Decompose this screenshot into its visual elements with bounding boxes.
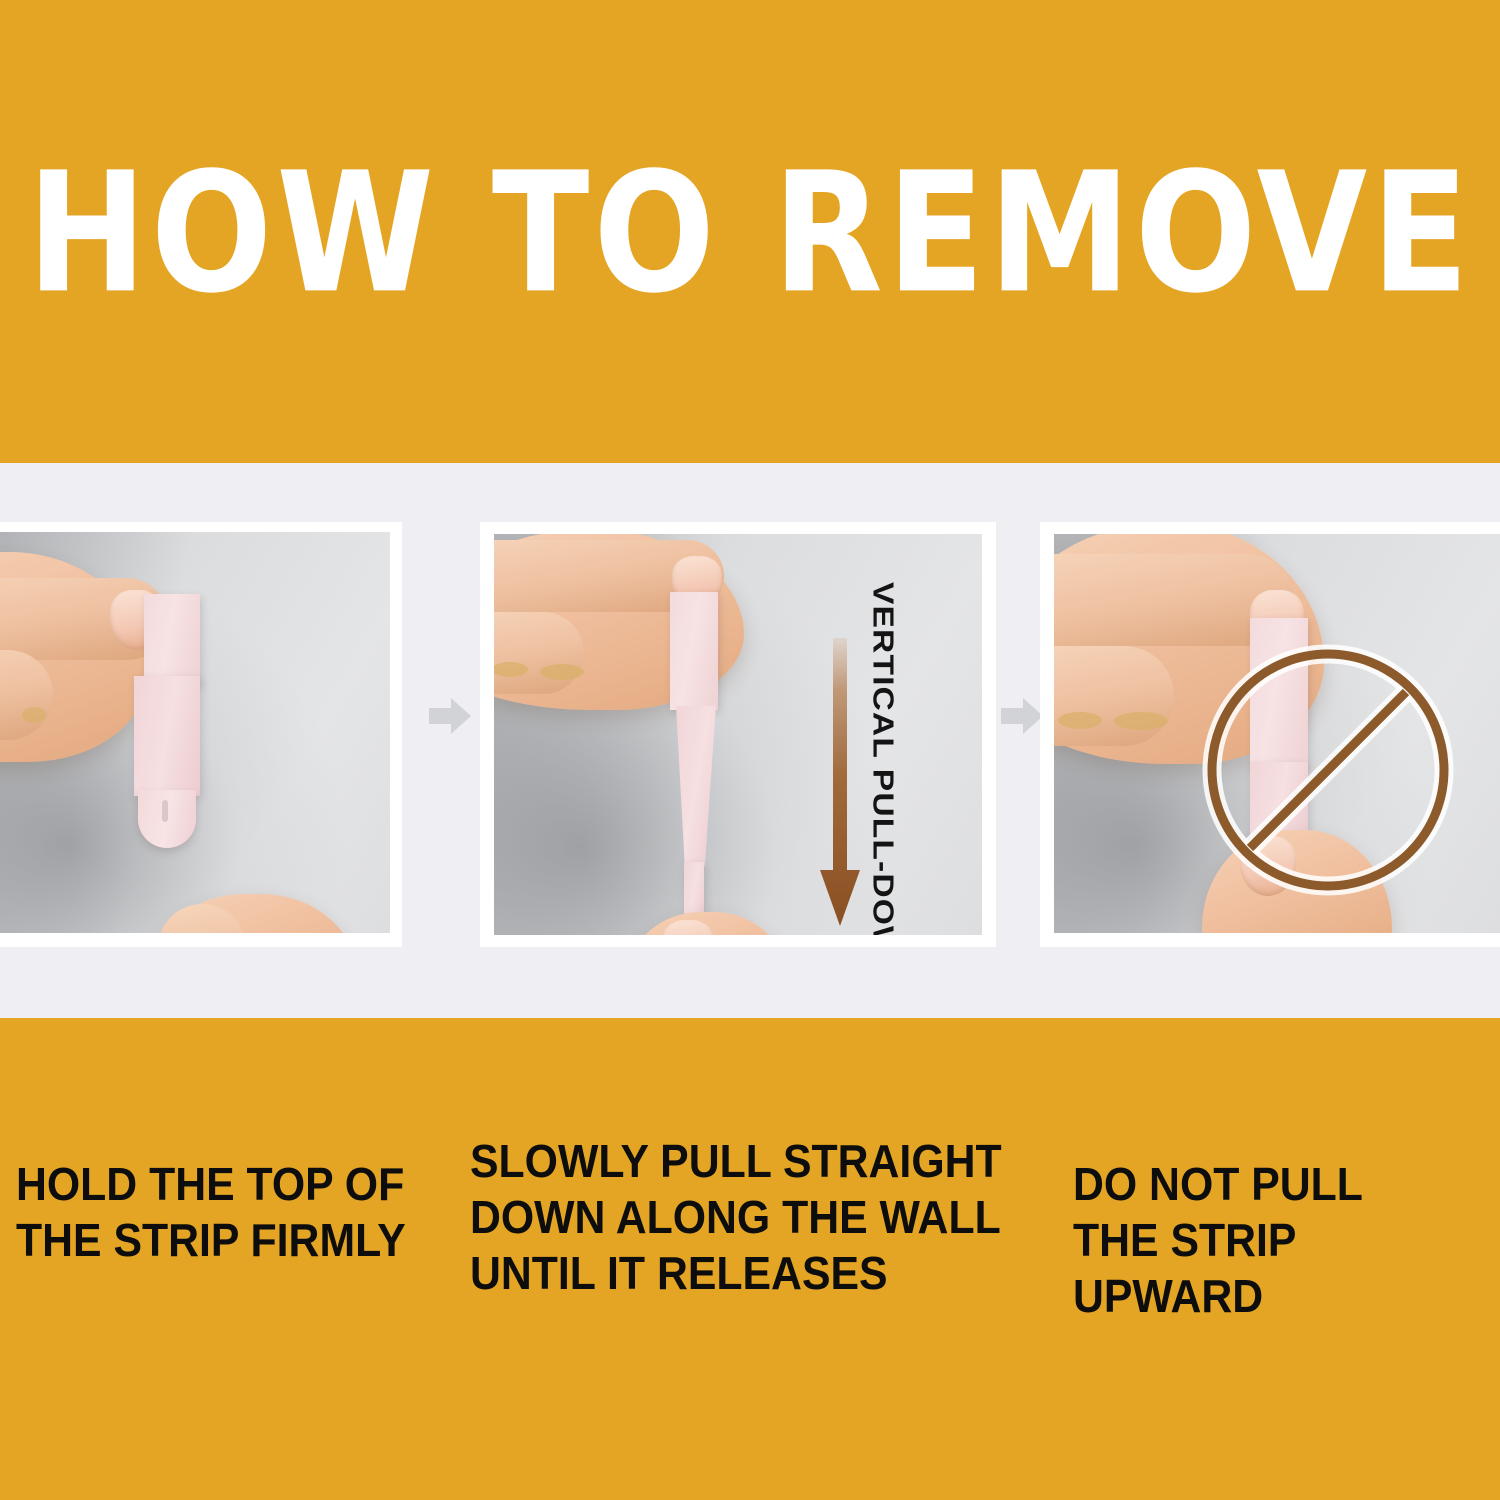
finger-middle — [1054, 646, 1174, 746]
step-caption-2: SLOWLY PULL STRAIGHT DOWN ALONG THE WALL… — [470, 1133, 1002, 1301]
step-photo-2: VERTICAL PULL-DOWN — [480, 522, 996, 947]
step-caption-1: HOLD THE TOP OF THE STRIP FIRMLY — [16, 1156, 406, 1268]
photo-hold-strip — [0, 532, 390, 933]
step-photo-1 — [0, 522, 402, 947]
page-title: HOW TO REMOVE — [0, 150, 1500, 316]
photo-strip-band: VERTICAL PULL-DOWN — [0, 463, 1500, 1018]
right-arrow-icon-1 — [427, 695, 473, 737]
strip-tab — [144, 594, 200, 686]
title-band: HOW TO REMOVE — [0, 0, 1500, 463]
strip-tab — [670, 592, 718, 710]
fingernail-rim-2 — [22, 707, 46, 723]
step-caption-3: DO NOT PULL THE STRIP UPWARD — [1073, 1156, 1470, 1324]
infographic-page: HOW TO REMOVE — [0, 0, 1500, 1500]
strip-body — [134, 676, 200, 796]
photo-pull-down: VERTICAL PULL-DOWN — [494, 534, 982, 935]
photo-do-not-pull-up — [1054, 534, 1500, 933]
strip-notch — [162, 800, 168, 822]
step-photo-3 — [1040, 522, 1500, 947]
caption-band: HOLD THE TOP OF THE STRIP FIRMLY SLOWLY … — [0, 1018, 1500, 1500]
fingernail-rim — [1114, 712, 1168, 730]
no-entry-icon — [1202, 644, 1454, 896]
fingernail-rim-2 — [1058, 712, 1102, 729]
down-arrow-icon — [820, 638, 860, 928]
pull-direction-label: VERTICAL PULL-DOWN — [866, 582, 899, 935]
right-arrow-icon-2 — [999, 695, 1045, 737]
finger-middle — [494, 612, 584, 694]
fingernail-rim — [540, 664, 584, 680]
